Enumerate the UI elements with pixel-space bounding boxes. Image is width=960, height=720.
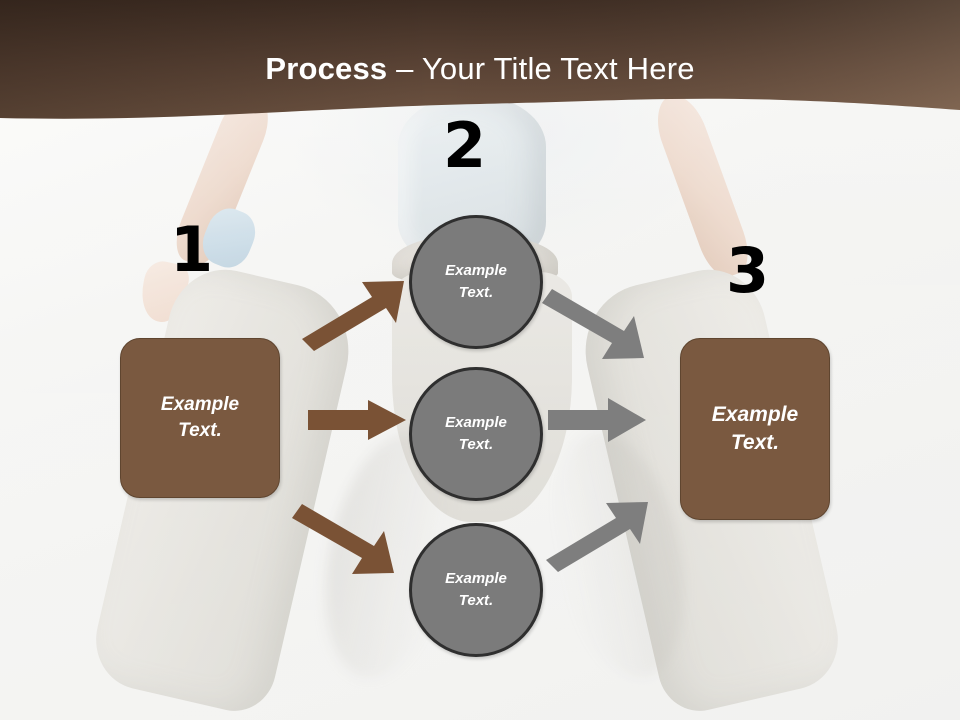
- step-number-1: 1: [170, 219, 213, 281]
- middle-circle-1-line2: Text.: [459, 282, 493, 304]
- arrow-start-to-circle-top: [300, 275, 410, 355]
- page-title: Process – Your Title Text Here: [0, 49, 960, 89]
- middle-circle-2-line1: Example: [445, 412, 507, 434]
- end-box[interactable]: Example Text.: [680, 338, 830, 520]
- arrow-circle-mid-to-end: [548, 398, 648, 442]
- middle-circle-1[interactable]: Example Text.: [409, 215, 543, 349]
- start-box[interactable]: Example Text.: [120, 338, 280, 498]
- end-box-line1: Example: [712, 401, 798, 429]
- middle-circle-3-line2: Text.: [459, 590, 493, 612]
- middle-circle-3[interactable]: Example Text.: [409, 523, 543, 657]
- arrow-circle-top-to-end: [548, 285, 658, 365]
- arrow-circle-bottom-to-end: [544, 496, 654, 576]
- arrow-start-to-circle-bottom: [298, 500, 408, 580]
- start-box-line2: Text.: [178, 418, 222, 444]
- middle-circle-2-line2: Text.: [459, 434, 493, 456]
- middle-circle-3-line1: Example: [445, 568, 507, 590]
- step-number-3: 3: [726, 240, 769, 302]
- middle-circle-1-line1: Example: [445, 260, 507, 282]
- page-title-rest: – Your Title Text Here: [387, 51, 694, 86]
- step-number-2: 2: [443, 115, 486, 177]
- arrow-start-to-circle-mid: [308, 400, 408, 440]
- end-box-line2: Text.: [731, 429, 779, 457]
- page-title-bold: Process: [265, 51, 387, 86]
- middle-circle-2[interactable]: Example Text.: [409, 367, 543, 501]
- slide-canvas: Process – Your Title Text Here 1 2 3 Exa…: [0, 0, 960, 720]
- start-box-line1: Example: [161, 392, 239, 418]
